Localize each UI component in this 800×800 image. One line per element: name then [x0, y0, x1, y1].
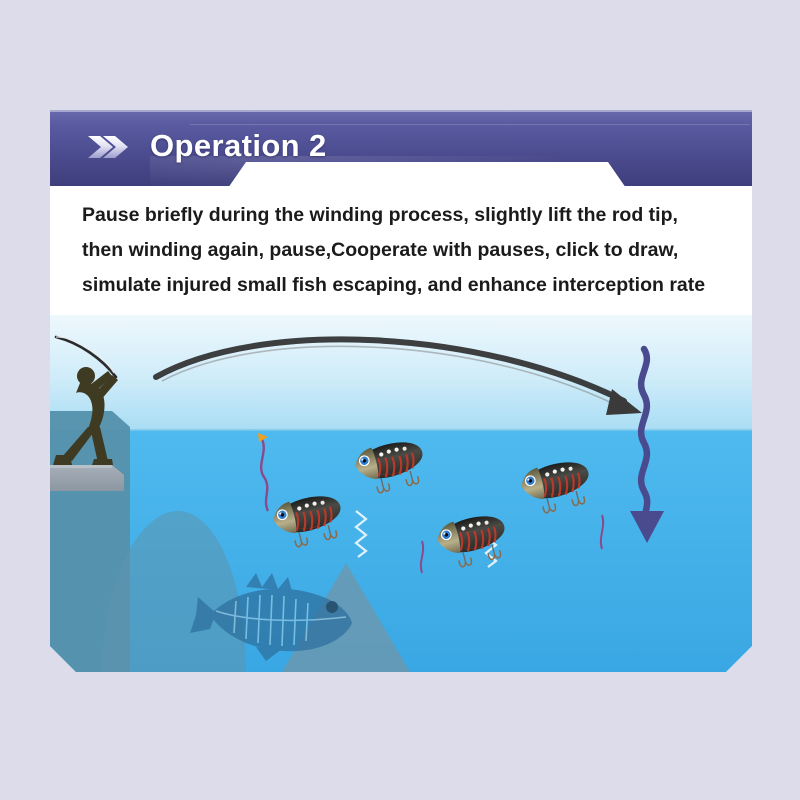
description-line-2: then winding again, pause,Cooperate with… — [82, 233, 732, 268]
scene-svg — [50, 315, 752, 672]
header-top-highlight — [50, 110, 752, 112]
description-text: Pause briefly during the winding process… — [82, 198, 732, 303]
header-notch — [228, 162, 626, 188]
operation-card: Operation 2 Pause briefly during the win… — [50, 110, 752, 672]
page-root: Operation 2 Pause briefly during the win… — [0, 0, 800, 800]
illustration-fishing-scene — [50, 315, 752, 672]
double-chevron-right-icon — [86, 132, 134, 162]
cliff-rock-highlight — [50, 465, 112, 468]
description-line-3: simulate injured small fish escaping, an… — [82, 268, 732, 303]
cliff-rock — [50, 465, 124, 491]
description-line-1: Pause briefly during the winding process… — [82, 198, 732, 233]
